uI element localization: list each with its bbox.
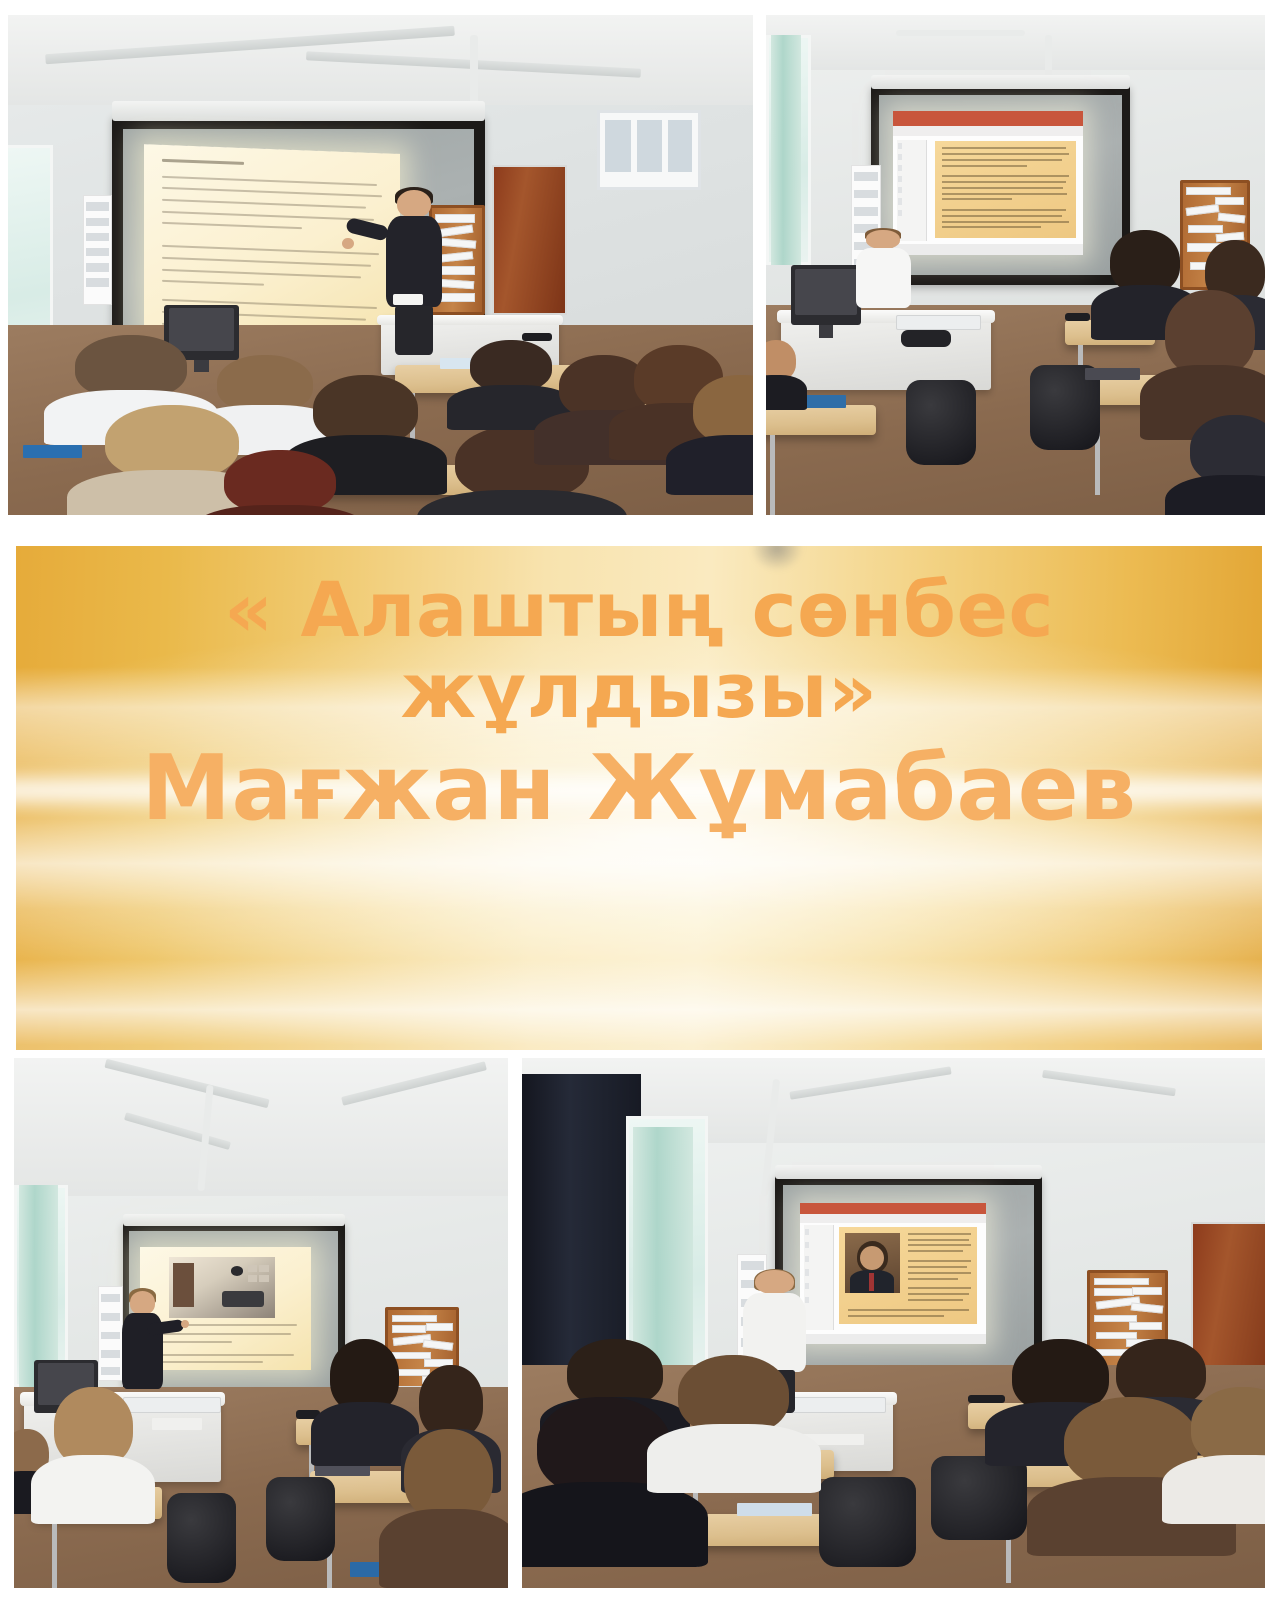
- wall-poster: [597, 110, 701, 190]
- window-curtain: [19, 1185, 59, 1386]
- presenter-head: [866, 230, 900, 249]
- backpack: [906, 380, 976, 465]
- student: [404, 1429, 493, 1588]
- screen-casing: [775, 1165, 1042, 1179]
- title-banner: « Алаштың сөнбес жұлдызы» Мағжан Жұмабае…: [16, 546, 1262, 1050]
- presentation-slide-window: [893, 111, 1083, 255]
- title-line-3: Мағжан Жұмабаев: [16, 741, 1262, 837]
- notebook: [1085, 368, 1140, 380]
- classroom-scene-top-right: [766, 15, 1265, 515]
- phone: [968, 1395, 1005, 1403]
- page-title: « Алаштың сөнбес жұлдызы» Мағжан Жұмабае…: [16, 569, 1262, 838]
- slide-titlebar: [893, 111, 1083, 125]
- slide-image: [169, 1257, 275, 1318]
- portrait-photo: [845, 1233, 900, 1293]
- student: [766, 340, 796, 410]
- textbook: [23, 445, 83, 458]
- student: [54, 1387, 133, 1525]
- backpack: [266, 1477, 335, 1562]
- photo-top-left: [8, 15, 753, 515]
- photo-bottom-left: [14, 1058, 508, 1588]
- student: [678, 1355, 789, 1493]
- projection-surface: [783, 1185, 1034, 1366]
- slide-statusbar: [800, 1334, 986, 1344]
- wall-handout-strip: [83, 195, 113, 305]
- slide-text-body: [935, 141, 1076, 238]
- presenter-torso: [856, 248, 910, 309]
- presenter-legs: [395, 306, 433, 356]
- student: [1190, 415, 1265, 515]
- slide-navigation-pane: [897, 140, 927, 241]
- presenter-head: [397, 190, 432, 218]
- screen-casing: [871, 75, 1130, 89]
- presentation-slide-window: [800, 1203, 986, 1344]
- photo-collage: « Алаштың сөнбес жұлдызы» Мағжан Жұмабае…: [0, 0, 1280, 1600]
- title-line-1: « Алаштың сөнбес: [16, 569, 1262, 650]
- slide-titlebar: [800, 1203, 986, 1214]
- slide-toolbar: [893, 126, 1083, 136]
- classroom-scene-bottom-right: [522, 1058, 1265, 1588]
- screen-casing: [112, 101, 485, 120]
- student: [470, 340, 552, 430]
- ceiling: [766, 15, 1265, 70]
- classroom-scene-top-left: [8, 15, 753, 515]
- presenter-head: [755, 1270, 794, 1294]
- slide-toolbar: [800, 1214, 986, 1222]
- student: [224, 450, 336, 515]
- presenter-student: [381, 190, 448, 355]
- student: [693, 375, 753, 495]
- student: [330, 1339, 399, 1466]
- photo-top-right: [766, 15, 1265, 515]
- student: [105, 405, 239, 515]
- window-curtain: [771, 35, 801, 265]
- backpack: [931, 1456, 1028, 1541]
- classroom-scene-bottom-left: [14, 1058, 508, 1588]
- slide-text-body: [839, 1227, 977, 1325]
- conduit-pipe: [896, 30, 1026, 36]
- slide-statusbar: [893, 244, 1083, 256]
- projector-screen: [775, 1175, 1042, 1376]
- student: [1191, 1387, 1265, 1525]
- textbook: [737, 1503, 811, 1516]
- phone: [1065, 313, 1090, 321]
- paper-sheet: [393, 294, 424, 306]
- photo-bottom-right: [522, 1058, 1265, 1588]
- classroom-door[interactable]: [492, 165, 567, 315]
- backpack: [167, 1493, 236, 1583]
- presenter-hand: [342, 238, 354, 250]
- presenter-head: [130, 1291, 156, 1314]
- backpack: [819, 1477, 916, 1567]
- screen-casing: [123, 1214, 345, 1226]
- presenter-student: [851, 230, 916, 340]
- title-line-2: жұлдызы»: [16, 650, 1262, 731]
